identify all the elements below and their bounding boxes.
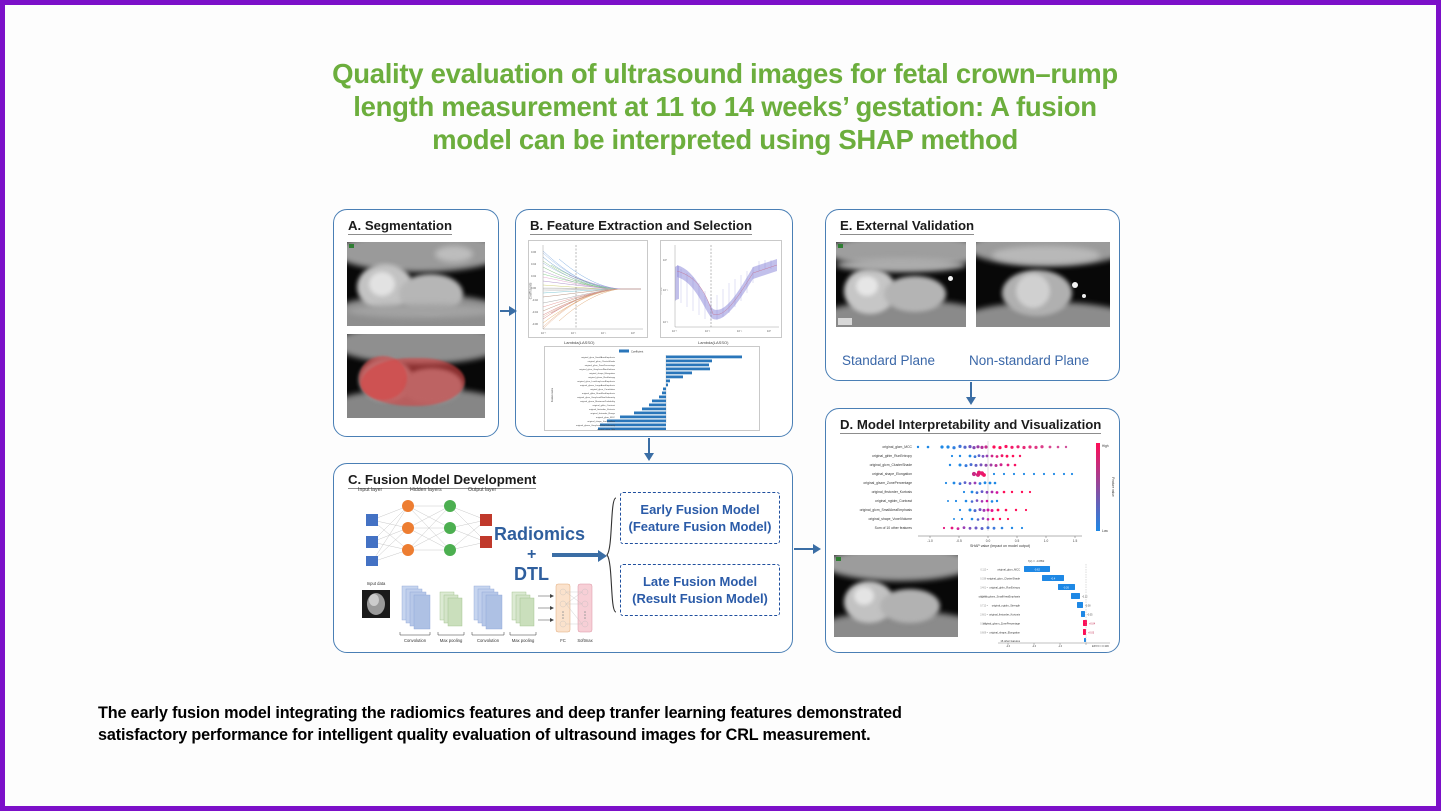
svg-text:Softmax: Softmax <box>577 638 593 643</box>
lasso-cv-xlabel: Lambda(LASSO) <box>698 340 728 345</box>
panel-e-external-validation: E. External Validation Standard Plane No… <box>825 209 1120 381</box>
svg-text:0.712 =: 0.712 = <box>980 605 988 607</box>
svg-text:0.00: 0.00 <box>664 430 669 431</box>
abstract-caption: The early fusion model integrating the r… <box>98 702 1348 746</box>
svg-text:original_glcm_Correlation: original_glcm_Correlation <box>590 388 616 391</box>
svg-text:-0.02: -0.02 <box>532 298 538 302</box>
svg-text:0.338 =: 0.338 = <box>980 578 988 580</box>
panel-b-label: B. Feature Extraction and Selection <box>530 218 752 235</box>
svg-text:original_firstorder_Kurtosis: original_firstorder_Kurtosis <box>589 408 616 411</box>
svg-text:original_glszm_GrayLevelNonUni: original_glszm_GrayLevelNonUniformity <box>576 424 616 427</box>
waterfall-case-ultrasound-image <box>834 555 958 637</box>
svg-text:f(x) = -0.882: f(x) = -0.882 <box>1028 559 1045 563</box>
svg-text:1.0: 1.0 <box>1044 539 1049 543</box>
fusion-arrow-line <box>552 553 598 557</box>
dtl-label: DTL <box>514 564 549 585</box>
svg-text:0.0: 0.0 <box>986 539 991 543</box>
svg-text:original_shape_VoxelVolume: original_shape_VoxelVolume <box>868 517 912 521</box>
early-fusion-model-box: Early Fusion Model (Feature Fusion Model… <box>620 492 780 544</box>
title-line-2: length measurement at 11 to 14 weeks’ ge… <box>205 90 1245 123</box>
lasso-cv-ylabel: MSE <box>660 288 662 295</box>
svg-text:3.401 =: 3.401 = <box>980 587 988 589</box>
svg-text:High: High <box>1102 444 1109 448</box>
svg-text:-2.0: -2.0 <box>1006 645 1011 647</box>
lasso-coefficient-path-plot: 0.060.040.02 0.00-0.02-0.04 -0.06 10⁻³10… <box>528 240 648 338</box>
svg-text:2.601 =: 2.601 = <box>980 614 988 616</box>
fusion-brace <box>606 496 618 619</box>
svg-text:0.5: 0.5 <box>1015 539 1020 543</box>
nn-input-layer-label: Input layer <box>358 487 382 493</box>
svg-text:-1.0: -1.0 <box>927 539 933 543</box>
page-title: Quality evaluation of ultrasound images … <box>205 57 1245 156</box>
svg-text:original_glszm_ZonePercentage: original_glszm_ZonePercentage <box>863 481 912 485</box>
svg-text:Feature name: Feature name <box>551 387 554 402</box>
svg-text:10⁰: 10⁰ <box>663 258 668 262</box>
original-ultrasound-image <box>347 242 485 326</box>
svg-text:original_glcm_MCC: original_glcm_MCC <box>882 445 912 449</box>
svg-text:Max pooling: Max pooling <box>440 638 463 643</box>
svg-text:original_glcm_ZonePercentage: original_glcm_ZonePercentage <box>585 364 616 367</box>
panel-c-fusion-model: C. Fusion Model Development <box>333 463 793 653</box>
panel-a-segmentation: A. Segmentation <box>333 209 499 437</box>
svg-text:10⁻²: 10⁻² <box>705 329 710 333</box>
svg-text:-0.06: -0.06 <box>532 322 538 326</box>
svg-text:0.148 =: 0.148 = <box>980 596 988 598</box>
svg-text:Sum of 10 other features: Sum of 10 other features <box>875 526 913 530</box>
svg-text:original_glcm_ClusterShade: original_glcm_ClusterShade <box>870 463 913 467</box>
svg-text:+0.04: +0.04 <box>1089 622 1096 625</box>
shap-beeswarm-plot: original_glcm_MCC original_glrlm_RunEntr… <box>832 437 1115 549</box>
svg-text:-2.0: -2.0 <box>1032 645 1037 647</box>
svg-text:original_glcm_SmallAreaEmphasi: original_glcm_SmallAreaEmphasis <box>581 356 616 359</box>
caption-line-1: The early fusion model integrating the r… <box>98 702 1348 724</box>
svg-text:Input data: Input data <box>367 581 386 586</box>
svg-text:original_glcm_MCC: original_glcm_MCC <box>596 416 616 419</box>
svg-text:original_glcm_ClusterShade: original_glcm_ClusterShade <box>588 360 616 363</box>
svg-text:original_shape_Elongation: original_shape_Elongation <box>989 630 1020 634</box>
svg-text:Low: Low <box>1102 529 1109 533</box>
svg-text:-0.10: -0.10 <box>616 430 622 431</box>
early-fusion-line-2: (Feature Fusion Model) <box>629 518 772 535</box>
svg-text:original_glcm_ClusterShade: original_glcm_ClusterShade <box>988 576 1021 580</box>
svg-text:original_glrlm_RunEntropy: original_glrlm_RunEntropy <box>872 454 912 458</box>
svg-text:original_firstorder_Kurtosis: original_firstorder_Kurtosis <box>989 612 1021 616</box>
panel-d-interpretability: D. Model Interpretability and Visualizat… <box>825 408 1120 653</box>
svg-text:Convolution: Convolution <box>404 638 427 643</box>
late-fusion-line-1: Late Fusion Model <box>643 573 757 590</box>
svg-text:original_glszm_ZonePercentage: original_glszm_ZonePercentage <box>983 621 1021 625</box>
arrow-b-to-c-head <box>644 453 654 461</box>
standard-plane-image <box>836 242 966 327</box>
lasso-path-xlabel: Lambda(LASSO) <box>564 340 594 345</box>
feature-coefficient-bar-chart: Coefficient <box>544 346 760 431</box>
svg-text:10⁻²: 10⁻² <box>663 320 668 324</box>
svg-text:original_glszm_LargeAreaEmphas: original_glszm_LargeAreaEmphasis <box>580 384 616 387</box>
caption-line-2: satisfactory performance for intelligent… <box>98 724 1348 746</box>
svg-text:original_glcm_LowGrayLevelEmph: original_glcm_LowGrayLevelEmphasis <box>577 380 616 383</box>
svg-text:10⁻³: 10⁻³ <box>541 331 546 335</box>
svg-text:-0.26: -0.26 <box>1063 585 1069 589</box>
svg-text:+0.03: +0.03 <box>1088 631 1095 634</box>
svg-text:10⁻¹: 10⁻¹ <box>663 288 668 292</box>
svg-text:0.609 =: 0.609 = <box>980 632 988 634</box>
svg-text:FC: FC <box>560 638 566 643</box>
svg-text:-0.5: -0.5 <box>956 539 962 543</box>
svg-text:-0.62: -0.62 <box>1034 567 1040 571</box>
svg-text:original_glszm_MaximumProbabil: original_glszm_MaximumProbability <box>580 400 616 403</box>
svg-text:original_ngtdm_Contrast: original_ngtdm_Contrast <box>875 499 912 503</box>
svg-text:original_glcm_SmallAreaEmphasi: original_glcm_SmallAreaEmphasis <box>860 508 913 512</box>
svg-text:original_glrlm_Contrast: original_glrlm_Contrast <box>593 404 616 407</box>
svg-text:Coefficient: Coefficient <box>631 350 643 354</box>
late-fusion-model-box: Late Fusion Model (Result Fusion Model) <box>620 564 780 616</box>
arrow-a-to-b-head <box>509 306 517 316</box>
svg-text:SHAP value (impact on model ou: SHAP value (impact on model output) <box>970 544 1030 548</box>
svg-text:-0.05: -0.05 <box>639 430 645 431</box>
nn-hidden-layers-label: Hidden layers <box>410 487 442 493</box>
svg-text:-0.04: -0.04 <box>532 310 538 314</box>
title-line-1: Quality evaluation of ultrasound images … <box>205 57 1245 90</box>
panel-a-label: A. Segmentation <box>348 218 452 235</box>
svg-text:10⁻²: 10⁻² <box>571 331 576 335</box>
svg-text:10⁻¹: 10⁻¹ <box>601 331 606 335</box>
svg-text:original_shape_Elongation: original_shape_Elongation <box>872 472 912 476</box>
panel-e-label: E. External Validation <box>840 218 974 235</box>
late-fusion-line-2: (Result Fusion Model) <box>632 590 768 607</box>
arrow-c-to-d-line <box>794 548 814 550</box>
svg-text:10⁰: 10⁰ <box>767 329 772 333</box>
arrow-e-to-d-line <box>970 382 972 398</box>
svg-text:0.02: 0.02 <box>531 274 537 278</box>
svg-text:Max pooling: Max pooling <box>512 638 535 643</box>
standard-plane-caption: Standard Plane <box>842 353 935 368</box>
svg-text:10⁰: 10⁰ <box>631 331 636 335</box>
svg-text:original_shape_Elongation: original_shape_Elongation <box>589 372 616 375</box>
svg-text:-0.05: -0.05 <box>1087 613 1093 616</box>
svg-text:0.04: 0.04 <box>531 262 537 266</box>
svg-text:0.112 =: 0.112 = <box>980 569 988 571</box>
svg-text:original_glcm_GrayLevelNonUnif: original_glcm_GrayLevelNonUniform <box>579 368 615 371</box>
svg-text:original_glrlm_ShortRunEmphasi: original_glrlm_ShortRunEmphasis <box>582 392 616 395</box>
segmented-ultrasound-image <box>347 334 485 418</box>
arrow-b-to-c-line <box>648 438 650 454</box>
svg-text:original_firstorder_Kurtosis: original_firstorder_Kurtosis <box>872 490 913 494</box>
svg-text:-0.12: -0.12 <box>1082 595 1088 598</box>
shap-waterfall-plot: f(x) = -0.882 -0.62-0.4-0.26 <box>962 555 1114 647</box>
nn-output-layer-label: Output layer <box>468 487 496 493</box>
svg-text:1.5: 1.5 <box>1073 539 1078 543</box>
non-standard-plane-image <box>976 242 1110 327</box>
svg-text:0.318 =: 0.318 = <box>980 623 988 625</box>
svg-text:original_glcm_Idm: original_glcm_Idm <box>597 428 615 431</box>
svg-text:original_glcm_GrayLevelNonUnif: original_glcm_GrayLevelNonUniformity <box>577 396 616 399</box>
svg-text:original_glcm_MCC: original_glcm_MCC <box>997 567 1020 571</box>
svg-text:10⁻¹: 10⁻¹ <box>737 329 742 333</box>
plus-label: + <box>527 546 536 564</box>
lasso-path-ylabel: Coefficients <box>528 283 532 300</box>
svg-text:-0.4: -0.4 <box>1051 576 1056 580</box>
svg-text:0.06: 0.06 <box>531 250 537 254</box>
arrow-e-to-d-head <box>966 397 976 405</box>
svg-text:original_firstorder_Range: original_firstorder_Range <box>590 412 615 415</box>
svg-text:0.10: 0.10 <box>723 430 728 431</box>
title-line-3: model can be interpreted using SHAP meth… <box>205 123 1245 156</box>
panel-d-label: D. Model Interpretability and Visualizat… <box>840 417 1101 434</box>
poster-frame: Quality evaluation of ultrasound images … <box>0 0 1441 811</box>
svg-text:0.05: 0.05 <box>693 430 698 431</box>
panel-b-feature-extraction: B. Feature Extraction and Selection <box>515 209 793 437</box>
svg-text:-1.0: -1.0 <box>1058 645 1063 647</box>
svg-text:original_ngtdm_Strength: original_ngtdm_Strength <box>992 603 1021 607</box>
svg-text:16 other features: 16 other features <box>1000 639 1020 643</box>
segmentation-mask-head <box>359 356 407 400</box>
arrow-c-to-d-head <box>813 544 821 554</box>
svg-text:Convolution: Convolution <box>477 638 500 643</box>
cnn-diagram: Convolution Max pooling Convolution Max … <box>348 568 598 646</box>
neural-network-diagram: Input layer Hidden layers Output layer <box>350 494 510 566</box>
svg-text:original_glszm_RunEntropy: original_glszm_RunEntropy <box>588 376 616 379</box>
early-fusion-line-1: Early Fusion Model <box>640 501 759 518</box>
lasso-cv-mse-plot: 10⁰10⁻¹10⁻² 10⁻³10⁻²10⁻¹10⁰ MSE <box>660 240 782 338</box>
radiomics-label: Radiomics <box>494 524 585 545</box>
svg-text:E[f(X)] = 0.306: E[f(X)] = 0.306 <box>1092 644 1109 647</box>
non-standard-plane-caption: Non-standard Plane <box>969 353 1089 368</box>
svg-text:10⁻³: 10⁻³ <box>672 329 677 333</box>
svg-text:Feature value: Feature value <box>1111 477 1115 497</box>
svg-text:original_shape_SurfaceArea: original_shape_SurfaceArea <box>587 420 615 423</box>
svg-text:original_glrlm_RunEntropy: original_glrlm_RunEntropy <box>989 585 1020 589</box>
